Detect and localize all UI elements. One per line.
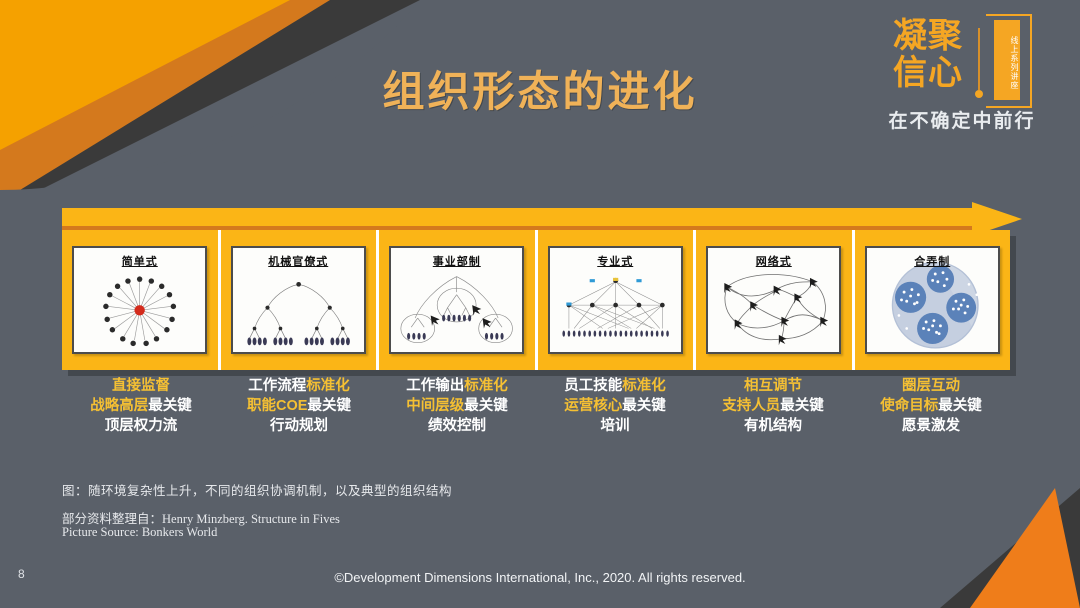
card-caption: 专业式 — [550, 253, 681, 269]
caption-column-6: 圈层互动 使命目标最关键 愿景激发 — [852, 376, 1010, 448]
caption-line-3: 愿景激发 — [852, 416, 1010, 436]
caption-columns: 直接监督 战略高层最关键 顶层权力流 工作流程标准化 职能COE最关键 行动规划… — [62, 376, 1010, 448]
caption-line-2: 支持人员最关键 — [694, 396, 852, 416]
card-simple-structure: 简单式 — [72, 246, 207, 354]
logo-line-1: 凝聚 — [862, 18, 994, 55]
caption-line-2: 使命目标最关键 — [852, 396, 1010, 416]
caption-line-3: 顶层权力流 — [62, 416, 220, 436]
card-caption: 事业部制 — [391, 253, 522, 269]
picture-source-note: Picture Source: Bonkers World — [62, 525, 217, 540]
caption-line-3: 培训 — [536, 416, 694, 436]
logo-main-text: 凝聚 信心 — [862, 18, 994, 92]
caption-line-1: 工作流程标准化 — [220, 376, 378, 396]
caption-column-4: 员工技能标准化 运营核心最关键 培训 — [536, 376, 694, 448]
card-holacracy: 合弄制 — [865, 246, 1000, 354]
caption-column-5: 相互调节 支持人员最关键 有机结构 — [694, 376, 852, 448]
card-professional-structure: 专业式 — [548, 246, 683, 354]
panel-strip: 简单式 — [62, 230, 1010, 370]
caption-line-2: 运营核心最关键 — [536, 396, 694, 416]
card-caption: 合弄制 — [867, 253, 998, 269]
logo-subtitle: 在不确定中前行 — [864, 106, 1060, 133]
caption-line-2: 中间层级最关键 — [378, 396, 536, 416]
evolution-arrow-band: 简单式 — [62, 202, 1022, 374]
caption-line-2: 战略高层最关键 — [62, 396, 220, 416]
caption-line-1: 圈层互动 — [852, 376, 1010, 396]
caption-column-3: 工作输出标准化 中间层级最关键 绩效控制 — [378, 376, 536, 448]
card-network-structure: 网络式 — [706, 246, 841, 354]
figure-note: 图：随环境复杂性上升，不同的组织协调机制，以及典型的组织结构 — [62, 480, 452, 499]
slide-canvas: 组织形态的进化 凝聚 信心 线上系列讲座 在不确定中前行 简单式 — [0, 0, 1080, 608]
panel-holacracy[interactable]: 合弄制 — [855, 230, 1011, 370]
caption-line-1: 相互调节 — [694, 376, 852, 396]
card-divisional-structure: 事业部制 — [389, 246, 524, 354]
panel-divisional-structure[interactable]: 事业部制 — [379, 230, 538, 370]
panel-professional-structure[interactable]: 专业式 — [538, 230, 697, 370]
caption-column-1: 直接监督 战略高层最关键 顶层权力流 — [62, 376, 220, 448]
card-caption: 简单式 — [74, 253, 205, 269]
logo-banner-text: 线上系列讲座 — [994, 20, 1020, 100]
caption-line-3: 绩效控制 — [378, 416, 536, 436]
caption-line-1: 员工技能标准化 — [536, 376, 694, 396]
decoration-bottom-right — [820, 488, 1080, 608]
card-caption: 网络式 — [708, 253, 839, 269]
caption-line-1: 工作输出标准化 — [378, 376, 536, 396]
caption-line-3: 行动规划 — [220, 416, 378, 436]
caption-line-1: 直接监督 — [62, 376, 220, 396]
brand-logo: 凝聚 信心 线上系列讲座 在不确定中前行 — [862, 14, 1062, 154]
card-caption: 机械官僚式 — [233, 253, 364, 269]
card-machine-bureaucracy: 机械官僚式 — [231, 246, 366, 354]
logo-line-2: 信心 — [862, 55, 994, 92]
panel-machine-bureaucracy[interactable]: 机械官僚式 — [221, 230, 380, 370]
copyright-notice: ©Development Dimensions International, I… — [0, 570, 1080, 585]
caption-line-3: 有机结构 — [694, 416, 852, 436]
caption-column-2: 工作流程标准化 职能COE最关键 行动规划 — [220, 376, 378, 448]
panel-simple-structure[interactable]: 简单式 — [62, 230, 221, 370]
caption-line-2: 职能COE最关键 — [220, 396, 378, 416]
panel-network-structure[interactable]: 网络式 — [696, 230, 855, 370]
